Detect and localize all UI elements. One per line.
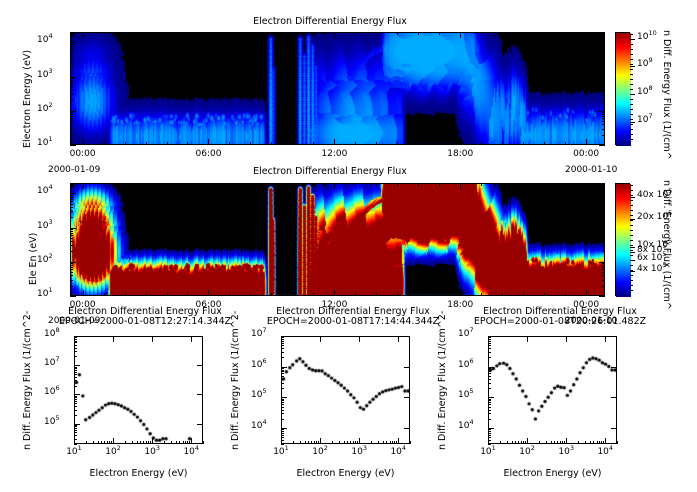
lp-ytick-minor (74, 348, 77, 349)
spec-ytick-minor (70, 204, 73, 205)
lp-xtick-minor (347, 441, 348, 444)
lp-xtick-minor (601, 441, 602, 444)
spec-ytick-major (70, 145, 76, 146)
cbar-tick-minor (630, 54, 633, 55)
lp-ytick-minor (488, 435, 491, 436)
spec-xtick-label: 00:00 (68, 149, 98, 159)
lp-ytick-minor (488, 413, 491, 414)
spec-xtick-top-minor (250, 183, 251, 186)
lp-xtick-minor (390, 441, 391, 444)
lp-ytick-minor (488, 433, 491, 434)
spec-ytick-minor-right (602, 199, 605, 200)
lp-ytick-label: 106 (458, 360, 474, 370)
lp-xtick-major-t (359, 336, 360, 342)
lp-xtick-major-t (566, 336, 567, 342)
lp-ytick-minor (488, 343, 491, 344)
spec-xtick-minor (544, 293, 545, 296)
spec-ytick-minor-right (602, 238, 605, 239)
spec-xtick-major (586, 290, 587, 296)
spec-ytick-minor-right (602, 118, 605, 119)
spec-ytick-minor-right (602, 267, 605, 268)
spec-xtick-minor (397, 142, 398, 145)
spec-xtick-minor (502, 293, 503, 296)
spec-xtick-top-minor (292, 32, 293, 35)
lp-ytick-minor (281, 435, 284, 436)
spec-ytick-minor-right (602, 217, 605, 218)
lp-xtick-label: 102 (513, 447, 541, 457)
lp-ytick-major-r (611, 367, 617, 368)
spec-xtick-minor (355, 293, 356, 296)
bottom-panel-2-xlabel: Electron Energy (eV) (281, 468, 410, 479)
spec-xtick-major (460, 139, 461, 145)
spec-ytick-minor (70, 238, 73, 239)
top-panel-title: Electron Differential Energy Flux (0, 16, 660, 27)
lp-xtick-label: 103 (552, 447, 580, 457)
lp-xtick-major (527, 438, 528, 444)
lp-xtick-minor (146, 441, 147, 444)
spec-xtick-top-minor (481, 32, 482, 35)
lp-ytick-label: 105 (458, 390, 474, 400)
lp-ytick-minor (74, 380, 77, 381)
lp-xtick-minor (137, 441, 138, 444)
spec-xtick-top-minor (523, 32, 524, 35)
lp-xtick-minor (148, 441, 149, 444)
lp-ytick-minor (74, 426, 77, 427)
spec-xtick-minor (376, 142, 377, 145)
middle-spectrogram[interactable] (70, 183, 605, 296)
lp-xtick-minor (308, 441, 309, 444)
lp-xtick-label: 104 (384, 447, 412, 457)
lp-xtick-minor (350, 441, 351, 444)
cbar-tick-minor (630, 280, 633, 281)
spec-xtick-minor (271, 293, 272, 296)
lp-xtick-minor (394, 441, 395, 444)
spec-xtick-minor (376, 293, 377, 296)
spec-xtick-top-minor (313, 183, 314, 186)
lp-ytick-minor (74, 403, 77, 404)
spec-ytick-minor-right (602, 66, 605, 67)
bottom-panel-3-plot[interactable] (488, 336, 617, 444)
lp-ytick-minor (281, 419, 284, 420)
lp-xtick-minor (500, 441, 501, 444)
cbar-tick-minor (630, 89, 633, 90)
lp-xtick-minor (521, 441, 522, 444)
spec-ytick-minor (70, 135, 73, 136)
cbar-tick-minor (630, 205, 633, 206)
cbar-tick-minor (630, 79, 633, 80)
spec-ytick-minor-right (602, 114, 605, 115)
lp-xtick-minor (560, 441, 561, 444)
cbar-tick-minor (630, 255, 633, 256)
spec-ytick-minor (70, 241, 73, 242)
spec-xtick-top-minor (565, 183, 566, 186)
middle-colorbar-label: n Diff. Energy Flux (1/(cm^ (661, 180, 672, 310)
lp-ytick-minor (281, 407, 284, 408)
spec-xtick-minor (292, 293, 293, 296)
spec-xtick-minor (355, 142, 356, 145)
lp-ytick-major-r (404, 367, 410, 368)
spec-ytick-minor (70, 217, 73, 218)
lp-ytick-minor (488, 383, 491, 384)
cbar-tick-minor (630, 84, 633, 85)
lp-ytick-minor (488, 419, 491, 420)
bottom-panel-2-plot[interactable] (281, 336, 410, 444)
lp-xtick-label: 102 (99, 447, 127, 457)
top-colorbar[interactable] (615, 32, 630, 145)
lp-ytick-minor (488, 402, 491, 403)
lp-ytick-label: 107 (458, 329, 474, 339)
cbar-tick-minor (630, 240, 633, 241)
lp-ytick-minor (488, 379, 491, 380)
spec-ytick-minor-right (602, 135, 605, 136)
spec-ytick-minor-right (602, 241, 605, 242)
spec-xtick-minor (292, 142, 293, 145)
cbar-tick-minor (630, 74, 633, 75)
cbar-tick-label: 108 (637, 87, 653, 97)
lp-ytick-major-r (404, 397, 410, 398)
spec-xtick-top-minor (104, 32, 105, 35)
lp-ytick-minor (74, 386, 77, 387)
lp-ytick-minor (74, 345, 77, 346)
cbar-tick-minor (630, 44, 633, 45)
lp-xtick-minor (185, 441, 186, 444)
lp-ytick-major-r (197, 336, 203, 337)
spec-ytick-minor (70, 53, 73, 54)
bottom-panel-1-xlabel: Electron Energy (eV) (74, 468, 203, 479)
spec-ytick-minor-right (602, 78, 605, 79)
lp-ytick-minor (488, 404, 491, 405)
lp-ytick-label: 105 (251, 390, 267, 400)
top-colorbar-label: n Diff. Energy Flux (1/(cm^ (661, 30, 672, 160)
lp-ytick-major-r (197, 424, 203, 425)
bottom-panel-3-ylabel: n Diff. Energy Flux (1/(cm^2- (437, 311, 448, 450)
spec-xtick-top-minor (565, 32, 566, 35)
spec-ytick-minor-right (602, 116, 605, 117)
cbar-tick-minor (630, 119, 633, 120)
lp-xtick-minor (585, 441, 586, 444)
lp-xtick-label: 103 (138, 447, 166, 457)
spec-ytick-minor (70, 100, 73, 101)
spec-xtick-minor (481, 293, 482, 296)
lp-xtick-minor (557, 441, 558, 444)
lp-xtick-minor (355, 441, 356, 444)
lp-ytick-minor (74, 399, 77, 400)
spec-ytick-minor (70, 116, 73, 117)
lp-ytick-minor (281, 345, 284, 346)
spec-ytick-minor (70, 195, 73, 196)
lp-ytick-minor (74, 372, 77, 373)
lp-ytick-major-r (404, 428, 410, 429)
spec-xtick-top-minor (125, 183, 126, 186)
lp-xtick-major (152, 438, 153, 444)
spec-xtick-top-major (208, 183, 209, 189)
lp-ytick-minor (488, 376, 491, 377)
spec-ytick-minor (70, 121, 73, 122)
top-spectrogram[interactable] (70, 32, 605, 145)
lp-xtick-minor (371, 441, 372, 444)
spec-xtick-minor (104, 142, 105, 145)
lp-ytick-minor (488, 400, 491, 401)
lp-xtick-minor (101, 441, 102, 444)
lp-xtick-minor (140, 441, 141, 444)
spec-xtick-top-major (83, 32, 84, 38)
spec-xtick-minor (565, 142, 566, 145)
spec-xtick-top-major (460, 32, 461, 38)
lp-xtick-minor (311, 441, 312, 444)
cbar-tick-minor (630, 270, 633, 271)
lp-ytick-minor (488, 407, 491, 408)
cbar-tick-minor (630, 124, 633, 125)
lp-ytick-minor (281, 431, 284, 432)
spec-ytick-minor-right (602, 84, 605, 85)
lp-xtick-minor (546, 441, 547, 444)
spec-xtick-top-minor (397, 183, 398, 186)
cbar-tick-minor (630, 245, 633, 246)
lp-xtick-minor (590, 441, 591, 444)
spec-xtick-minor (313, 293, 314, 296)
lp-ytick-minor (74, 410, 77, 411)
lp-xtick-minor (392, 441, 393, 444)
cbar-tick-minor (630, 39, 633, 40)
lp-xtick-minor (171, 441, 172, 444)
spec-ytick-minor-right (602, 44, 605, 45)
spec-xtick-top-minor (271, 183, 272, 186)
lp-xtick-label: 104 (591, 447, 619, 457)
spec-ytick-minor (70, 286, 73, 287)
lp-xtick-minor (316, 441, 317, 444)
lp-ytick-minor (281, 383, 284, 384)
cbar-tick-minor (630, 290, 633, 291)
spec-xtick-minor (502, 142, 503, 145)
spec-xtick-minor (125, 293, 126, 296)
cbar-tick-minor (630, 235, 633, 236)
spec-ytick-minor-right (602, 121, 605, 122)
cbar-tick-major (630, 66, 635, 67)
spec-xtick-minor (523, 293, 524, 296)
cbar-tick-minor (630, 139, 633, 140)
spec-ytick-minor-right (602, 201, 605, 202)
spec-ytick-minor-right (602, 275, 605, 276)
cbar-tick-minor (630, 215, 633, 216)
spec-ytick-minor-right (602, 265, 605, 266)
cbar-tick-minor (630, 129, 633, 130)
lp-xtick-minor (203, 441, 204, 444)
spec-xtick-major (334, 290, 335, 296)
spec-xtick-major (83, 139, 84, 145)
lp-ytick-minor (74, 401, 77, 402)
spec-xtick-top-minor (167, 32, 168, 35)
spec-xtick-top-minor (523, 183, 524, 186)
lp-ytick-minor (488, 368, 491, 369)
lp-ytick-minor (488, 399, 491, 400)
spec-ytick-minor-right (602, 211, 605, 212)
lp-xtick-minor (378, 441, 379, 444)
cbar-tick-minor (630, 275, 633, 276)
spec-xtick-top-minor (376, 183, 377, 186)
spec-ytick-minor-right (602, 245, 605, 246)
spec-xtick-top-minor (167, 183, 168, 186)
lp-ytick-minor (281, 379, 284, 380)
lp-ytick-minor (74, 374, 77, 375)
lp-ytick-minor (488, 431, 491, 432)
middle-colorbar-label-wrap: n Diff. Energy Flux (1/(cm^ (672, 180, 697, 191)
spec-ytick-minor (70, 199, 73, 200)
spec-ytick-minor-right (602, 269, 605, 270)
spec-ytick-minor (70, 84, 73, 85)
spec-xtick-major (208, 290, 209, 296)
spec-xtick-major (208, 139, 209, 145)
spec-ytick-minor (70, 60, 73, 61)
spec-ytick-minor-right (602, 48, 605, 49)
spec-ytick-minor (70, 231, 73, 232)
lp-xtick-minor (386, 441, 387, 444)
lp-xtick-minor (383, 441, 384, 444)
spec-ytick-minor-right (602, 90, 605, 91)
spec-xtick-top-minor (355, 183, 356, 186)
cbar-tick-minor (630, 285, 633, 286)
spec-ytick-minor (70, 245, 73, 246)
spec-ytick-minor-right (602, 231, 605, 232)
lp-ytick-minor (281, 410, 284, 411)
lp-ytick-minor (281, 370, 284, 371)
spec-ytick-major-right (599, 145, 605, 146)
spec-ytick-minor-right (602, 207, 605, 208)
spec-ytick-minor (70, 44, 73, 45)
spec-ytick-label: 102 (37, 104, 53, 114)
spec-ytick-minor-right (602, 60, 605, 61)
lp-xtick-major-t (281, 336, 282, 342)
spec-xtick-top-major (83, 183, 84, 189)
cbar-tick-minor (630, 225, 633, 226)
lp-ytick-minor (488, 371, 491, 372)
cbar-tick-label: 109 (637, 59, 653, 69)
spec-ytick-minor (70, 235, 73, 236)
spec-xtick-top-minor (418, 183, 419, 186)
lp-xtick-minor (93, 441, 94, 444)
lp-xtick-minor (515, 441, 516, 444)
middle-colorbar[interactable] (615, 183, 630, 296)
cbar-tick-minor (630, 250, 633, 251)
spec-ytick-minor-right (602, 286, 605, 287)
lp-ytick-label: 106 (251, 360, 267, 370)
middle-panel-title: Electron Differential Energy Flux (0, 166, 660, 177)
lp-xtick-minor (109, 441, 110, 444)
spec-xtick-minor (229, 293, 230, 296)
spec-ytick-minor (70, 267, 73, 268)
cbar-tick-minor (630, 195, 633, 196)
lp-ytick-minor (488, 357, 491, 358)
lp-xtick-minor (164, 441, 165, 444)
spec-xtick-major (83, 290, 84, 296)
lp-xtick-major (281, 438, 282, 444)
cbar-tick-minor (630, 134, 633, 135)
lp-ytick-minor (281, 371, 284, 372)
cbar-tick-major (630, 247, 635, 248)
lp-ytick-minor (74, 397, 77, 398)
lp-ytick-major-r (197, 394, 203, 395)
spec-xtick-minor (418, 293, 419, 296)
spec-xtick-minor (187, 142, 188, 145)
lp-ytick-minor (281, 433, 284, 434)
cbar-tick-minor (630, 200, 633, 201)
spec-xtick-top-minor (146, 32, 147, 35)
lp-ytick-label: 104 (458, 421, 474, 431)
lp-ytick-minor (488, 370, 491, 371)
lp-xtick-major (359, 438, 360, 444)
lp-xtick-major-t (113, 336, 114, 342)
spec-xtick-top-major (586, 32, 587, 38)
lp-ytick-major-r (404, 336, 410, 337)
spec-ytick-minor-right (602, 112, 605, 113)
spec-ytick-major-right (599, 296, 605, 297)
cbar-tick-minor (630, 59, 633, 60)
spec-ytick-minor-right (602, 87, 605, 88)
spec-ytick-minor-right (602, 204, 605, 205)
spec-xtick-minor (523, 142, 524, 145)
lp-ytick-minor (74, 430, 77, 431)
spec-ytick-minor (70, 87, 73, 88)
spec-xtick-minor (397, 293, 398, 296)
lp-xtick-minor (187, 441, 188, 444)
spec-ytick-minor-right (602, 124, 605, 125)
lp-ytick-minor (281, 400, 284, 401)
spec-xtick-top-minor (146, 183, 147, 186)
lp-ytick-minor (488, 429, 491, 430)
bottom-panel-1-plot[interactable] (74, 336, 203, 444)
lp-xtick-minor (554, 441, 555, 444)
spec-ytick-minor (70, 90, 73, 91)
lp-ytick-minor (281, 373, 284, 374)
lp-xtick-major (488, 438, 489, 444)
lp-ytick-minor (281, 429, 284, 430)
spec-ytick-minor-right (602, 251, 605, 252)
lp-xtick-major-t (527, 336, 528, 342)
cbar-tick-minor (630, 69, 633, 70)
spec-ytick-minor-right (602, 80, 605, 81)
spec-xtick-top-minor (376, 32, 377, 35)
spec-ytick-minor-right (602, 100, 605, 101)
spec-xtick-minor (125, 142, 126, 145)
lp-ytick-minor (488, 388, 491, 389)
spec-ytick-minor (70, 56, 73, 57)
bottom-panel-1-ylabel: n Diff. Energy Flux (1/(cm^2- (22, 311, 33, 450)
spec-ytick-minor-right (602, 53, 605, 54)
lp-xtick-minor (179, 441, 180, 444)
lp-xtick-minor (86, 441, 87, 444)
lp-xtick-minor (132, 441, 133, 444)
spec-xtick-minor (439, 293, 440, 296)
lp-xtick-major (566, 438, 567, 444)
lp-xtick-minor (597, 441, 598, 444)
bottom-panel-3-xlabel: Electron Energy (eV) (488, 468, 617, 479)
lp-ytick-minor (74, 396, 77, 397)
lp-xtick-minor (507, 441, 508, 444)
lp-ytick-minor (281, 399, 284, 400)
spec-ytick-minor (70, 229, 73, 230)
spec-xtick-label: 06:00 (193, 149, 223, 159)
spec-ytick-minor-right (602, 82, 605, 83)
spec-xtick-top-minor (229, 183, 230, 186)
spec-ytick-minor (70, 50, 73, 51)
lp-ytick-minor (74, 425, 77, 426)
cbar-tick-minor (630, 185, 633, 186)
spec-ytick-minor (70, 211, 73, 212)
lp-ytick-minor (74, 432, 77, 433)
lp-ytick-minor (281, 348, 284, 349)
lp-xtick-major (113, 438, 114, 444)
lp-ytick-minor (281, 343, 284, 344)
cbar-tick-major (630, 252, 635, 253)
